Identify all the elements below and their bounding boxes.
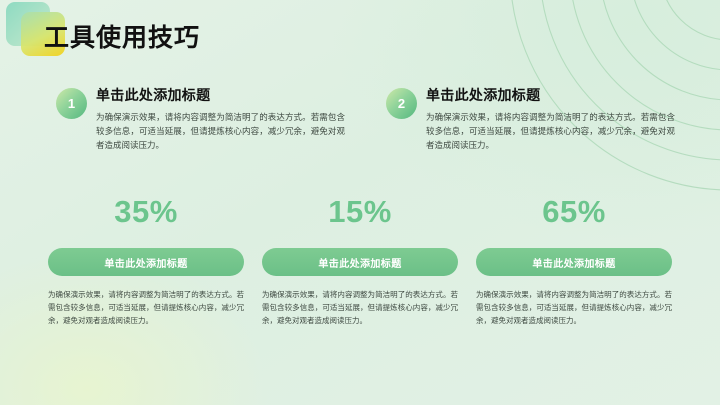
- info-block-1-description: 为确保演示效果，请将内容调整为简洁明了的表达方式。若需包含较多信息，可适当延展，…: [96, 110, 345, 152]
- stat-button-1[interactable]: 单击此处添加标题: [48, 248, 244, 276]
- info-block-2: 2 单击此处添加标题 为确保演示效果，请将内容调整为简洁明了的表达方式。若需包含…: [386, 88, 676, 152]
- stat-value-2: 15%: [262, 196, 458, 227]
- stat-button-2[interactable]: 单击此处添加标题: [262, 248, 458, 276]
- info-block-1: 1 单击此处添加标题 为确保演示效果，请将内容调整为简洁明了的表达方式。若需包含…: [56, 88, 346, 152]
- badge-number-2: 2: [386, 88, 417, 119]
- stat-value-1: 35%: [48, 196, 244, 227]
- info-block-2-title[interactable]: 单击此处添加标题: [426, 88, 676, 103]
- stat-description-2: 为确保演示效果，请将内容调整为简洁明了的表达方式。若需包含较多信息，可适当延展，…: [262, 289, 458, 327]
- info-block-1-title[interactable]: 单击此处添加标题: [96, 88, 346, 103]
- stat-value-3: 65%: [476, 196, 672, 227]
- page-title: 工具使用技巧: [44, 26, 200, 51]
- slide-canvas: 工具使用技巧 1 单击此处添加标题 为确保演示效果，请将内容调整为简洁明了的表达…: [0, 0, 720, 405]
- stat-description-1: 为确保演示效果，请将内容调整为简洁明了的表达方式。若需包含较多信息，可适当延展，…: [48, 289, 244, 327]
- stat-description-3: 为确保演示效果，请将内容调整为简洁明了的表达方式。若需包含较多信息，可适当延展，…: [476, 289, 672, 327]
- stats-row: 35% 单击此处添加标题 为确保演示效果，请将内容调整为简洁明了的表达方式。若需…: [0, 196, 720, 376]
- badge-number-1: 1: [56, 88, 87, 119]
- info-block-2-description: 为确保演示效果，请将内容调整为简洁明了的表达方式。若需包含较多信息，可适当延展，…: [426, 110, 675, 152]
- stat-button-3[interactable]: 单击此处添加标题: [476, 248, 672, 276]
